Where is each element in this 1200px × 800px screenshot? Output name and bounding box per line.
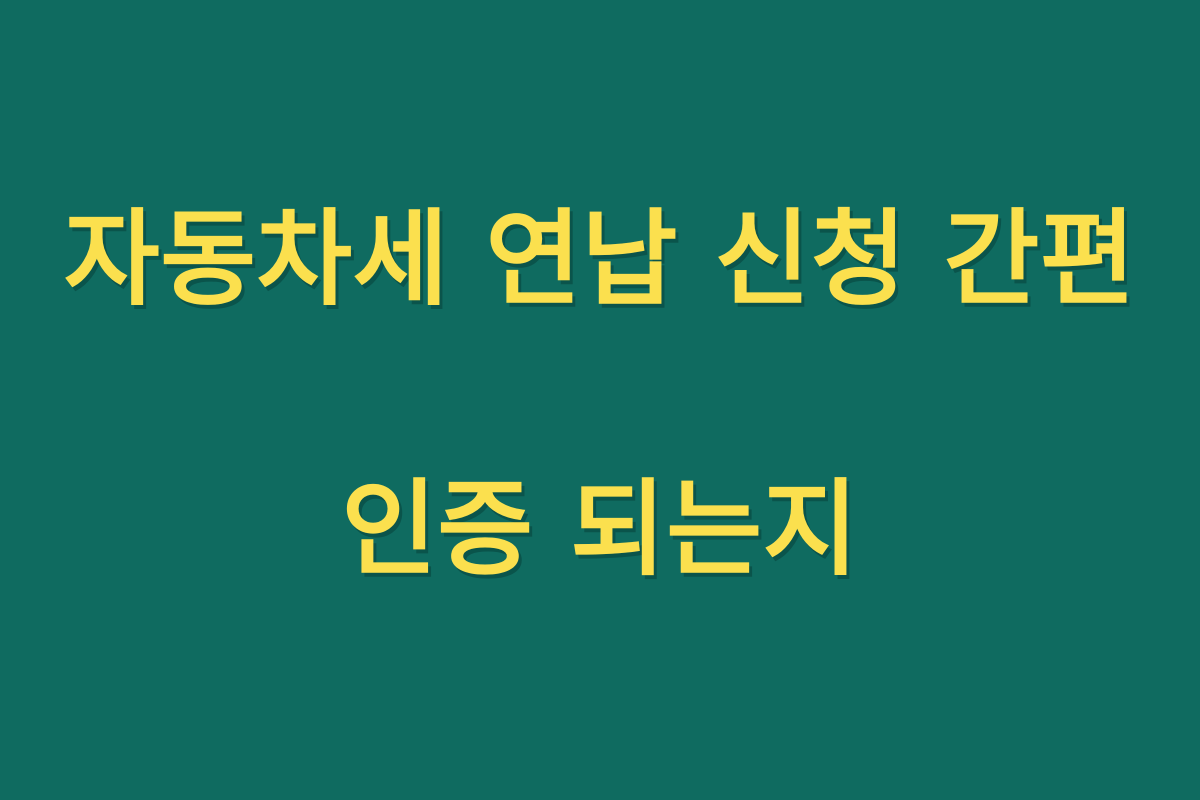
headline-line-1: 자동차세 연납 신청 간편 (40, 192, 1160, 327)
headline-line-2: 인증 되는지 (40, 462, 1160, 597)
banner-canvas: 자동차세 연납 신청 간편 인증 되는지 (0, 0, 1200, 800)
page-title: 자동차세 연납 신청 간편 인증 되는지 (40, 57, 1160, 732)
